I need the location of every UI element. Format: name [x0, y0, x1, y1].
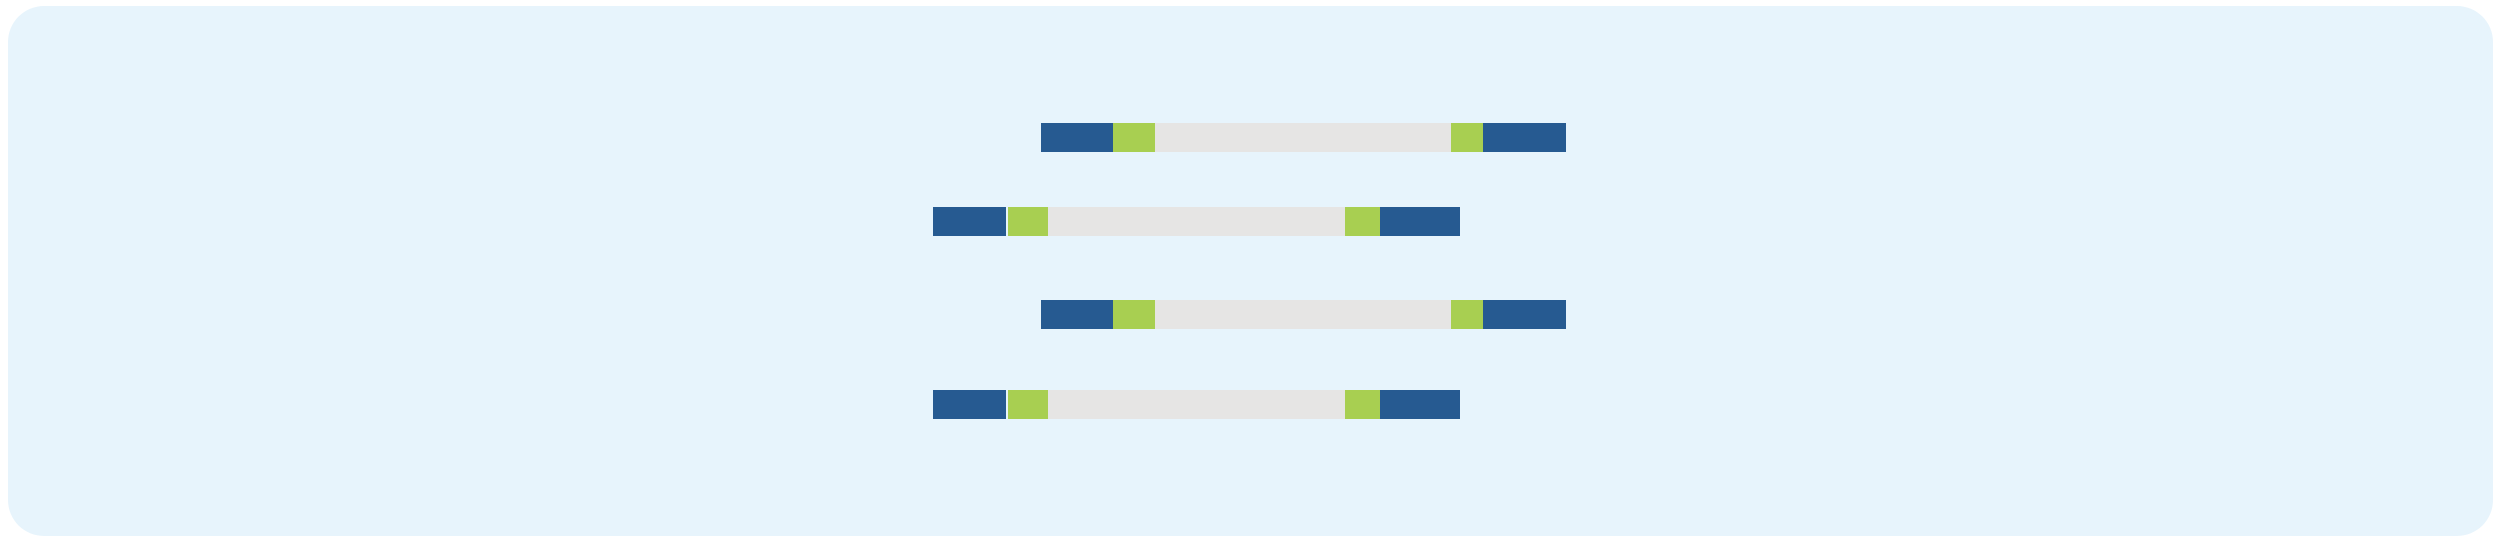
bar-row[interactable] — [1041, 123, 1566, 152]
bar-row[interactable] — [1041, 300, 1566, 329]
bar-segment-start-marker[interactable] — [1113, 123, 1155, 152]
bar-segment-start-marker[interactable] — [1008, 207, 1048, 236]
bar-segment-end-cap[interactable] — [1380, 390, 1460, 419]
segmented-bar-chart — [0, 0, 2501, 542]
bar-segment-track[interactable] — [1155, 300, 1451, 329]
bar-segment-end-cap[interactable] — [1483, 300, 1566, 329]
bar-segment-end-cap[interactable] — [1380, 207, 1460, 236]
bar-segment-start-cap[interactable] — [1041, 123, 1113, 152]
bar-segment-track[interactable] — [1048, 390, 1345, 419]
bar-segment-end-marker[interactable] — [1345, 207, 1380, 236]
screenshot-canvas — [0, 0, 2501, 542]
bar-segment-end-marker[interactable] — [1451, 123, 1483, 152]
bar-segment-start-cap[interactable] — [933, 207, 1006, 236]
bar-segment-start-marker[interactable] — [1113, 300, 1155, 329]
bar-segment-track[interactable] — [1048, 207, 1345, 236]
bar-row[interactable] — [933, 207, 1460, 236]
bar-segment-end-cap[interactable] — [1483, 123, 1566, 152]
bar-segment-start-cap[interactable] — [933, 390, 1006, 419]
bar-segment-track[interactable] — [1155, 123, 1451, 152]
bar-segment-start-cap[interactable] — [1041, 300, 1113, 329]
bar-segment-start-marker[interactable] — [1008, 390, 1048, 419]
bar-segment-end-marker[interactable] — [1451, 300, 1483, 329]
bar-row[interactable] — [933, 390, 1460, 419]
bar-segment-end-marker[interactable] — [1345, 390, 1380, 419]
